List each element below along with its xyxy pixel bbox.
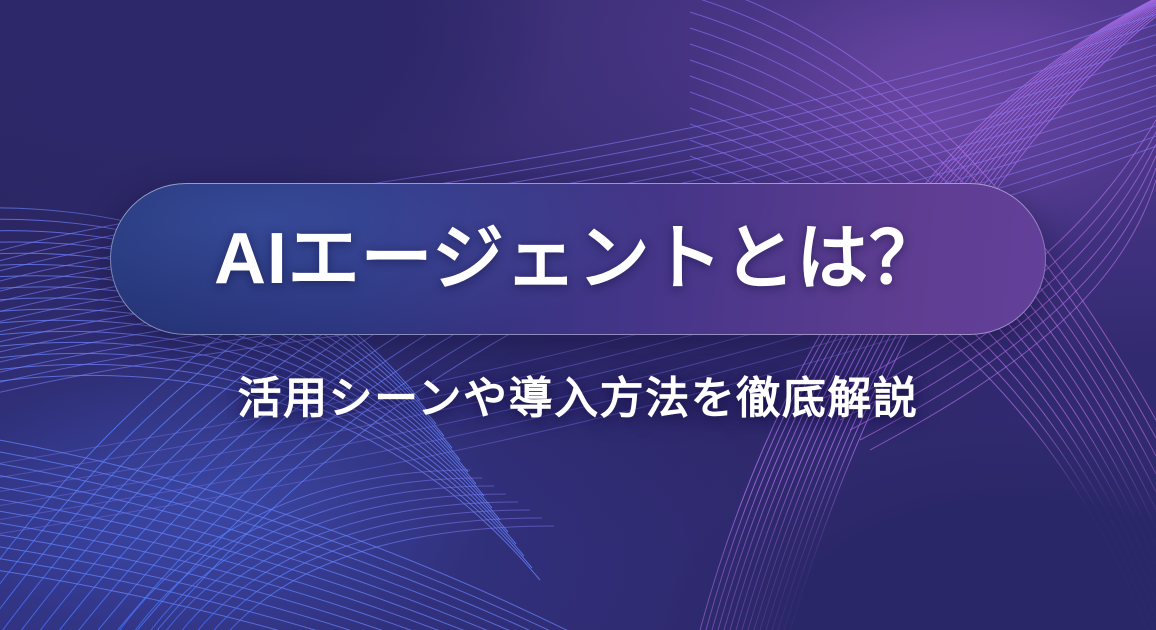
page-title: AIエージェントとは？ [214,223,942,295]
page-subtitle: 活用シーンや導入方法を徹底解説 [0,377,1156,421]
title-pill: AIエージェントとは？ [110,183,1046,335]
hero-banner: AIエージェントとは？ 活用シーンや導入方法を徹底解説 [0,0,1156,630]
